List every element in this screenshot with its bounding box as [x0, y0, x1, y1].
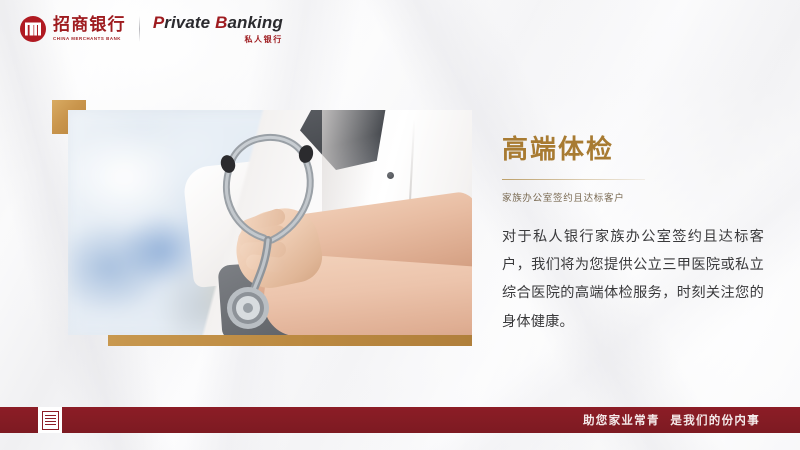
- footer-left-block: [0, 407, 38, 433]
- header-bar: 招商银行 CHINA MERCHANTS BANK Private Bankin…: [0, 0, 800, 58]
- footer-right-block: 助您家业常青 是我们的份内事: [62, 407, 800, 433]
- cmb-seal-emblem-icon: [42, 411, 59, 430]
- slide-root: 招商银行 CHINA MERCHANTS BANK Private Bankin…: [0, 0, 800, 450]
- pb-initial-b: B: [215, 13, 227, 32]
- cmb-wordmark: 招商银行 CHINA MERCHANTS BANK: [53, 17, 126, 41]
- private-banking-name-cn: 私人银行: [244, 34, 282, 45]
- pb-initial-p: P: [153, 13, 164, 32]
- page-title: 高端体检: [502, 136, 764, 165]
- content-column: 高端体检 家族办公室签约且达标客户 对于私人银行家族办公室签约且达标客户，我们将…: [502, 136, 764, 336]
- cmb-circle-logo-icon: [20, 16, 46, 42]
- private-banking-brand: Private Banking 私人银行: [153, 14, 283, 45]
- pb-word-banking: anking: [227, 13, 282, 32]
- cmb-bank-logo: 招商银行 CHINA MERCHANTS BANK: [20, 16, 126, 42]
- header-divider: [139, 16, 140, 42]
- cmb-name-en: CHINA MERCHANTS BANK: [53, 37, 127, 41]
- page-subtitle: 家族办公室签约且达标客户: [502, 190, 764, 204]
- pb-word-private: rivate: [164, 13, 215, 32]
- stethoscope-icon: [208, 110, 378, 335]
- cmb-name-cn: 招商银行: [53, 17, 126, 34]
- hero-coat-button: [387, 172, 394, 179]
- title-divider: [502, 179, 645, 180]
- footer-emblem-container: [38, 407, 62, 433]
- body-paragraph: 对于私人银行家族办公室签约且达标客户，我们将为您提供公立三甲医院或私立综合医院的…: [502, 223, 764, 337]
- footer-slogan: 助您家业常青 是我们的份内事: [583, 412, 760, 428]
- footer-bar: 助您家业常青 是我们的份内事: [0, 407, 800, 433]
- hero-image-doctor-stethoscope: [68, 110, 472, 335]
- private-banking-name-en: Private Banking: [153, 14, 283, 31]
